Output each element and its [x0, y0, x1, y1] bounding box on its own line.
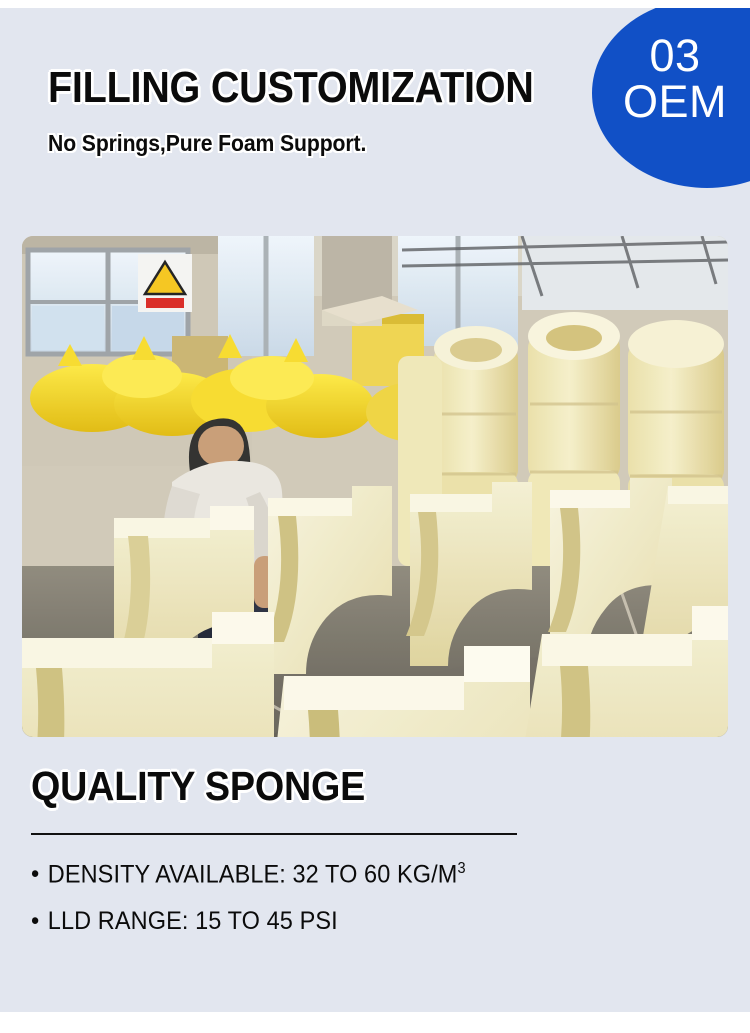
footer-block: QUALITY SPONGE •DENSITY AVAILABLE: 32 TO…	[31, 766, 721, 956]
spec-item-density: •DENSITY AVAILABLE: 32 TO 60 KG/M3	[31, 861, 680, 887]
page-subtitle: No Springs,Pure Foam Support.	[48, 132, 544, 155]
footer-title: QUALITY SPONGE	[31, 766, 666, 807]
oem-badge-number: 03	[614, 34, 736, 78]
promo-banner: 03 OEM FILLING CUSTOMIZATION No Springs,…	[0, 0, 750, 1033]
spec-density-text: DENSITY AVAILABLE: 32 TO 60 KG/M	[48, 860, 458, 888]
factory-photo-illustration	[22, 236, 728, 737]
factory-photo	[22, 236, 728, 737]
header-block: FILLING CUSTOMIZATION No Springs,Pure Fo…	[48, 66, 588, 155]
oem-badge-label: OEM	[614, 80, 736, 124]
oem-badge-text: 03 OEM	[614, 34, 736, 123]
footer-divider	[31, 833, 517, 835]
bullet-dot-icon: •	[31, 860, 39, 888]
page-title: FILLING CUSTOMIZATION	[48, 66, 534, 110]
spec-density-superscript: 3	[457, 860, 465, 877]
spec-lld-text: LLD RANGE: 15 TO 45 PSI	[48, 907, 338, 935]
spec-item-lld: •LLD RANGE: 15 TO 45 PSI	[31, 909, 680, 934]
bullet-dot-icon: •	[31, 907, 39, 935]
spec-list: •DENSITY AVAILABLE: 32 TO 60 KG/M3 •LLD …	[31, 861, 721, 934]
content-panel: 03 OEM FILLING CUSTOMIZATION No Springs,…	[0, 8, 750, 1012]
